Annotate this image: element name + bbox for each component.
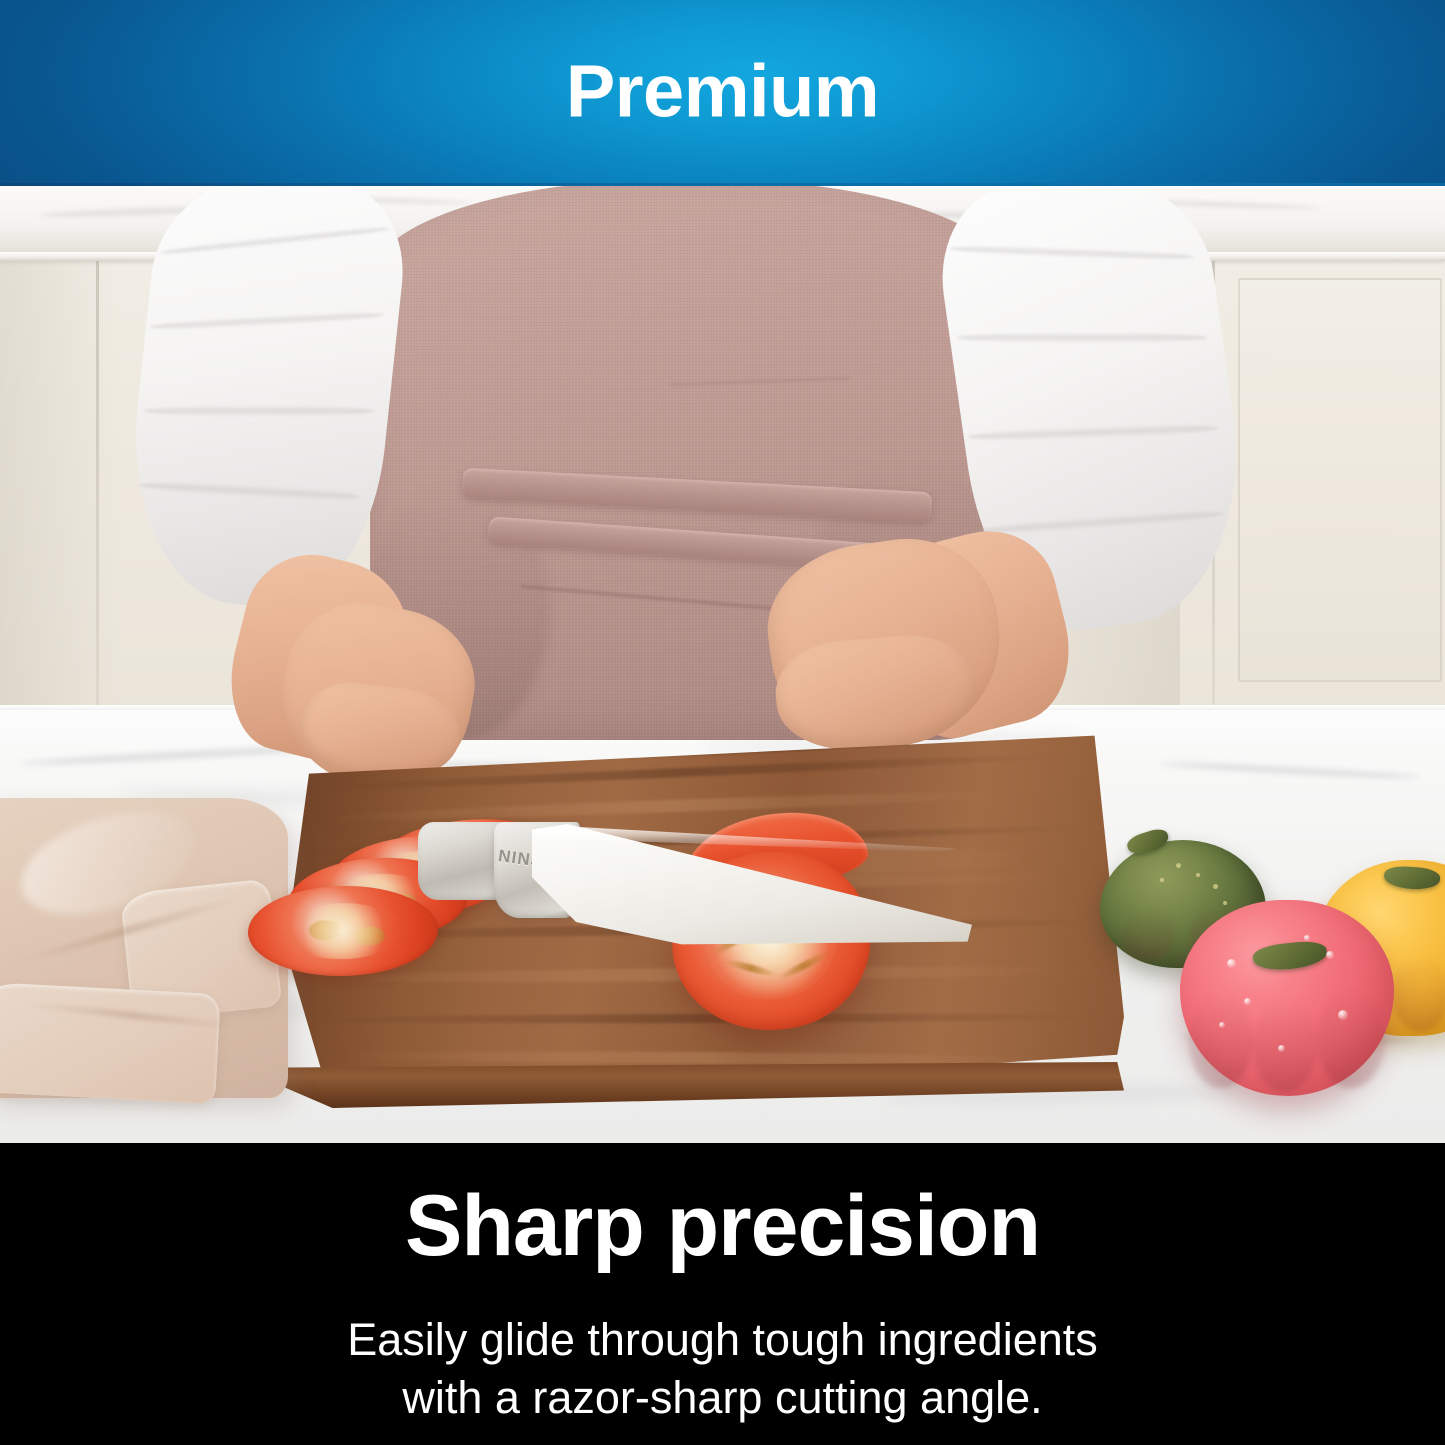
header-title: Premium bbox=[0, 55, 1445, 129]
linen-towel bbox=[0, 798, 288, 1098]
chef-knife: NINJA bbox=[470, 816, 990, 991]
caption-panel: Sharp precision Easily glide through tou… bbox=[0, 1143, 1445, 1445]
heirloom-tomato-pink bbox=[1180, 900, 1394, 1096]
product-feature-card: Premium bbox=[0, 0, 1445, 1445]
lifestyle-photo: NINJA bbox=[0, 186, 1445, 1143]
caption-subtitle-line-1: Easily glide through tough ingredients bbox=[347, 1314, 1098, 1365]
tomato-stem bbox=[1384, 865, 1441, 891]
header-banner: Premium bbox=[0, 0, 1445, 186]
caption-headline: Sharp precision bbox=[0, 1183, 1445, 1269]
caption-subtitle: Easily glide through tough ingredients w… bbox=[0, 1311, 1445, 1426]
caption-subtitle-line-2: with a razor-sharp cutting angle. bbox=[0, 1369, 1445, 1427]
tomato-stem bbox=[1252, 939, 1328, 973]
